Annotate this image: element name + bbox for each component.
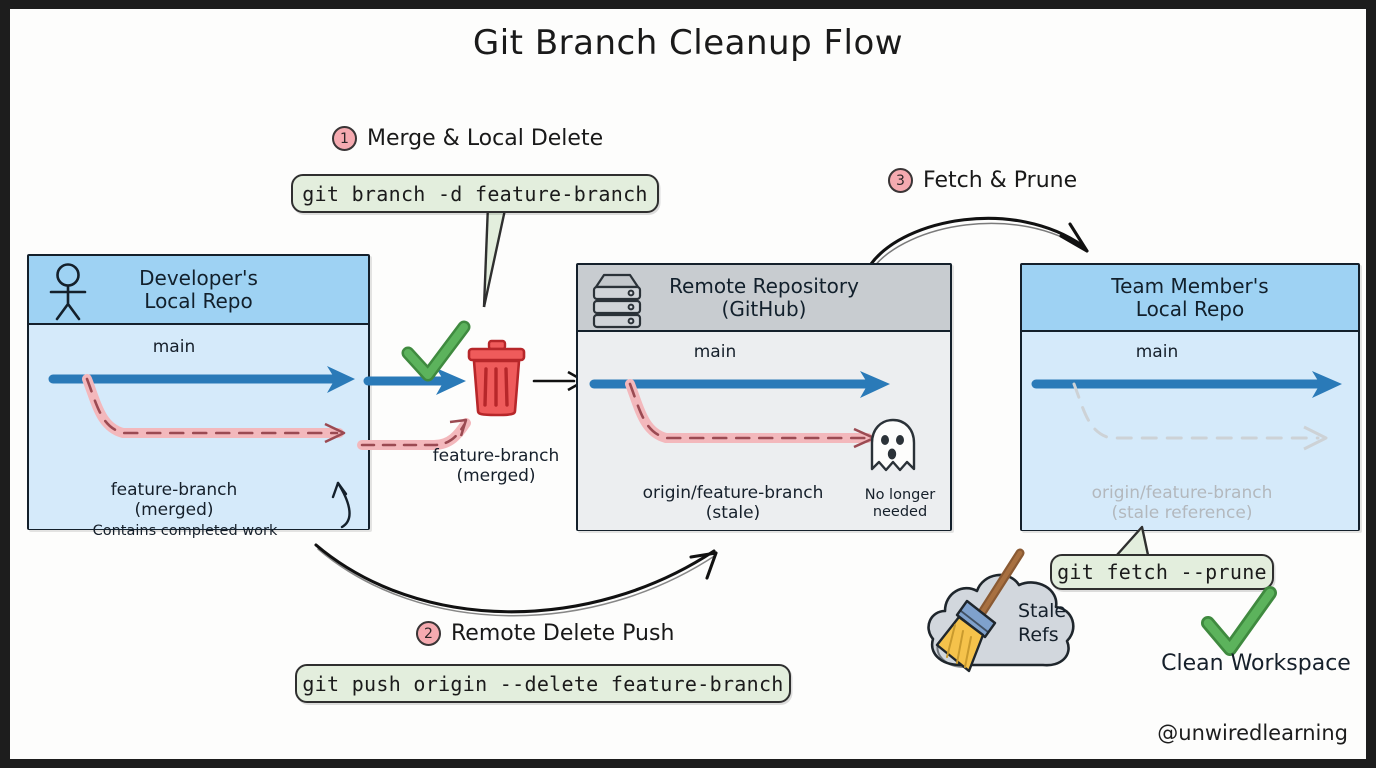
- branch-label-main-team-member: main: [1092, 343, 1222, 363]
- page-title: Git Branch Cleanup Flow: [10, 23, 1366, 63]
- feature-branch-path-developer: [49, 375, 369, 475]
- panel-title-team-member: Team Member's Local Repo: [1111, 275, 1268, 320]
- panel-title-developer: Developer's Local Repo: [139, 267, 258, 312]
- step-3-label-row: 3 Fetch & Prune: [888, 168, 1077, 193]
- trash-branch-label: feature-branch (merged): [406, 447, 586, 486]
- branch-label-main-remote: main: [650, 343, 780, 363]
- panel-body-developer: main feature-branch (merged) Contains co…: [29, 325, 368, 529]
- svg-text:Refs: Refs: [1018, 624, 1059, 646]
- ghost-note-remote: No longer needed: [853, 487, 947, 520]
- command-chip-step-1[interactable]: git branch -d feature-branch: [291, 174, 659, 213]
- feature-branch-path-remote: [590, 380, 900, 480]
- stale-reference-path-team-member: [1032, 380, 1352, 480]
- panel-header-developer: Developer's Local Repo: [29, 256, 368, 325]
- branch-label-feature-developer: feature-branch (merged): [44, 481, 304, 520]
- step-3-arc-arrow: [865, 202, 1115, 272]
- screenshot-frame: Git Branch Cleanup Flow 1 Merge & Local …: [0, 0, 1376, 768]
- ghost-icon: [866, 417, 922, 479]
- step-2-label-row: 2 Remote Delete Push: [416, 621, 674, 646]
- panel-title-remote: Remote Repository (GitHub): [669, 275, 859, 320]
- panel-remote-repository[interactable]: Remote Repository (GitHub) main: [576, 263, 952, 531]
- step-3-label: Fetch & Prune: [923, 168, 1077, 193]
- panel-developer-local-repo[interactable]: Developer's Local Repo main feature-bran…: [27, 254, 370, 530]
- step-1-label: Merge & Local Delete: [367, 126, 603, 151]
- step-1-callout-tail: [440, 201, 530, 316]
- clean-workspace-check-icon: [1200, 587, 1280, 659]
- svg-text:Stale: Stale: [1018, 600, 1066, 622]
- branch-label-main-developer: main: [109, 338, 239, 358]
- check-mark-icon: [402, 321, 472, 385]
- watermark: @unwiredlearning: [1157, 721, 1348, 745]
- command-chip-step-2[interactable]: git push origin --delete feature-branch: [295, 664, 791, 703]
- panel-header-team-member: Team Member's Local Repo: [1022, 265, 1358, 332]
- curved-pointer-icon: [304, 475, 364, 530]
- stale-refs-cloud-icon: Stale Refs: [925, 539, 1095, 679]
- step-3-badge: 3: [888, 168, 913, 193]
- step-2-badge: 2: [416, 621, 441, 646]
- trash-can-icon: [465, 339, 527, 417]
- branch-label-feature-remote: origin/feature-branch (stale): [588, 484, 878, 523]
- step-2-curve-arrow: [310, 537, 730, 627]
- branch-label-stale-team-member: origin/feature-branch (stale reference): [1032, 484, 1332, 523]
- step-1-badge: 1: [332, 126, 357, 151]
- panel-team-member-local-repo[interactable]: Team Member's Local Repo main origin/fea…: [1020, 263, 1360, 531]
- person-icon: [43, 262, 93, 320]
- diagram-canvas: Git Branch Cleanup Flow 1 Merge & Local …: [10, 9, 1366, 759]
- panel-body-team-member: main origin/feature-branch (stale refere…: [1022, 332, 1358, 530]
- step-1-label-row: 1 Merge & Local Delete: [332, 126, 603, 151]
- server-icon: [588, 271, 646, 327]
- panel-header-remote: Remote Repository (GitHub): [578, 265, 950, 332]
- panel-body-remote: main origin/feature-branch (stale): [578, 332, 950, 530]
- step-2-label: Remote Delete Push: [451, 621, 674, 646]
- feature-note-developer: Contains completed work: [35, 523, 335, 540]
- clean-workspace-label: Clean Workspace: [1146, 651, 1366, 676]
